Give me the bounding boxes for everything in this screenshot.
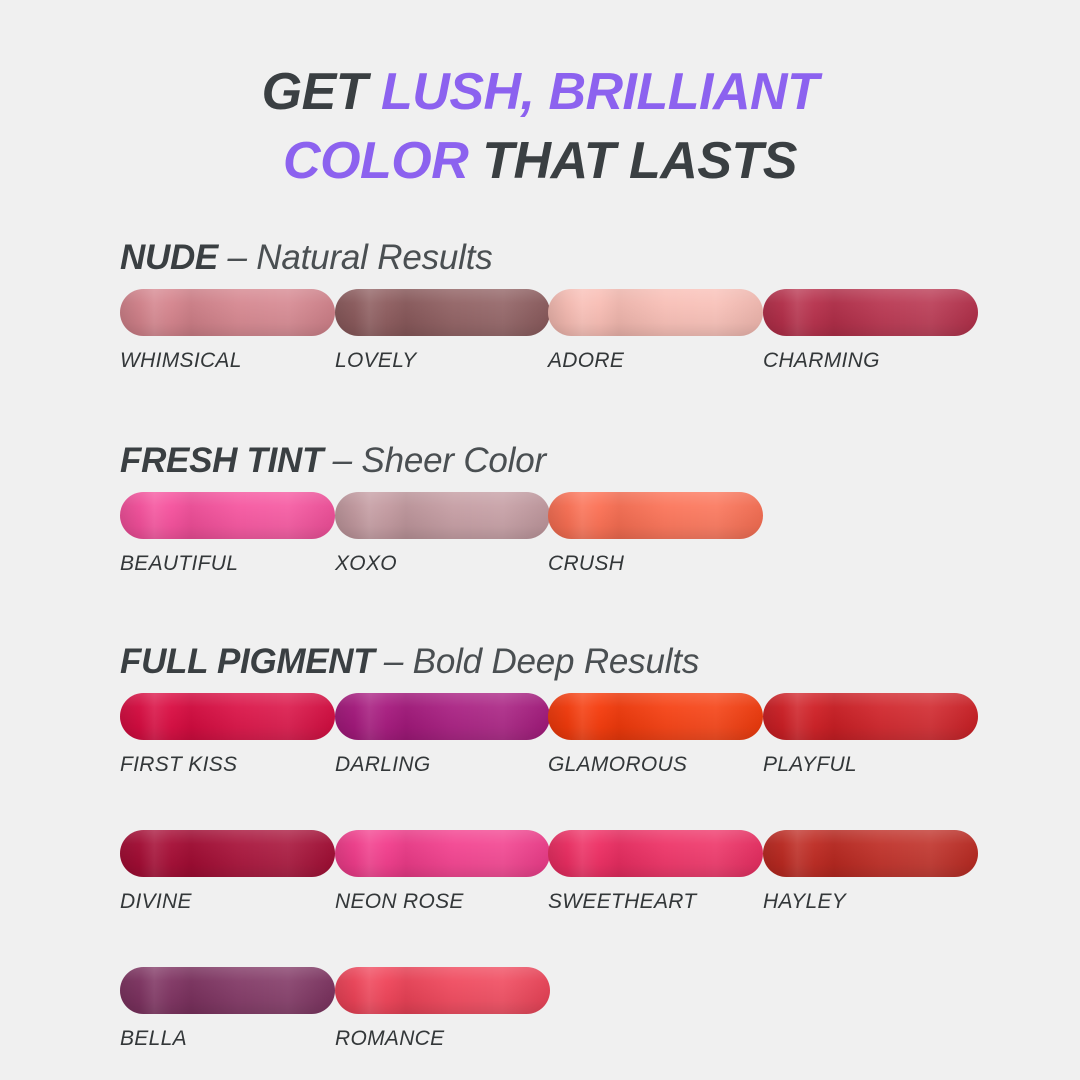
swatch-row: DIVINENEON ROSESWEETHEARTHAYLEY <box>120 830 1020 914</box>
swatch-color-chip[interactable] <box>120 289 335 336</box>
swatch-name-label: ADORE <box>548 349 763 373</box>
shade-section-fresh-tint: FRESH TINT – Sheer ColorBEAUTIFULXOXOCRU… <box>120 443 1020 576</box>
swatch-row: FIRST KISSDARLINGGLAMOROUSPLAYFUL <box>120 693 1020 777</box>
shade-section-nude: NUDE – Natural ResultsWHIMSICALLOVELYADO… <box>120 240 1020 373</box>
swatch-row: BEAUTIFULXOXOCRUSH <box>120 492 1020 576</box>
page-title-line-2: COLOR THAT LASTS <box>0 127 1080 196</box>
section-heading: NUDE – Natural Results <box>120 240 1020 275</box>
section-heading: FULL PIGMENT – Bold Deep Results <box>120 644 1020 679</box>
swatch-name-label: GLAMOROUS <box>548 753 763 777</box>
swatch-color-chip[interactable] <box>335 492 550 539</box>
swatch-color-chip[interactable] <box>335 967 550 1014</box>
swatch-name-label: DIVINE <box>120 890 335 914</box>
swatch-color-chip[interactable] <box>763 693 978 740</box>
section-category-label: NUDE <box>120 238 218 277</box>
swatch-name-label: NEON ROSE <box>335 890 550 914</box>
swatch-item[interactable]: DARLING <box>335 693 550 777</box>
swatch-item[interactable]: GLAMOROUS <box>548 693 763 777</box>
swatch-item[interactable]: BELLA <box>120 967 335 1051</box>
swatch-item[interactable]: ADORE <box>548 289 763 373</box>
swatch-color-chip[interactable] <box>335 693 550 740</box>
swatch-color-chip[interactable] <box>548 830 763 877</box>
swatch-color-chip[interactable] <box>548 289 763 336</box>
section-heading: FRESH TINT – Sheer Color <box>120 443 1020 478</box>
page-title-text-dark-1: GET <box>262 63 381 121</box>
swatch-color-chip[interactable] <box>548 693 763 740</box>
section-category-label: FULL PIGMENT <box>120 642 374 681</box>
section-description-label: – Sheer Color <box>323 441 546 480</box>
swatch-item[interactable]: NEON ROSE <box>335 830 550 914</box>
swatch-item[interactable]: BEAUTIFUL <box>120 492 335 576</box>
swatch-name-label: FIRST KISS <box>120 753 335 777</box>
page-title-text-dark-2: THAT LASTS <box>468 132 797 190</box>
swatch-name-label: HAYLEY <box>763 890 978 914</box>
swatch-item[interactable]: FIRST KISS <box>120 693 335 777</box>
swatch-item[interactable]: CRUSH <box>548 492 763 576</box>
swatch-item[interactable]: DIVINE <box>120 830 335 914</box>
swatch-color-chip[interactable] <box>120 492 335 539</box>
swatch-color-chip[interactable] <box>548 492 763 539</box>
page-title-text-accent-2: COLOR <box>283 132 468 190</box>
page-title: GET LUSH, BRILLIANT COLOR THAT LASTS <box>0 58 1080 195</box>
swatch-name-label: XOXO <box>335 552 550 576</box>
swatch-item[interactable]: PLAYFUL <box>763 693 978 777</box>
swatch-color-chip[interactable] <box>120 830 335 877</box>
page-title-text-accent-1: LUSH, BRILLIANT <box>381 63 818 121</box>
section-description-label: – Bold Deep Results <box>374 642 699 681</box>
swatch-color-chip[interactable] <box>120 693 335 740</box>
swatch-item[interactable]: HAYLEY <box>763 830 978 914</box>
swatch-item[interactable]: WHIMSICAL <box>120 289 335 373</box>
swatch-row: WHIMSICALLOVELYADORECHARMING <box>120 289 1020 373</box>
swatch-row: BELLAROMANCE <box>120 967 1020 1051</box>
swatch-name-label: CHARMING <box>763 349 978 373</box>
product-shade-chart: GET LUSH, BRILLIANT COLOR THAT LASTS NUD… <box>0 0 1080 1080</box>
section-description-label: – Natural Results <box>218 238 493 277</box>
swatch-item[interactable]: ROMANCE <box>335 967 550 1051</box>
swatch-name-label: ROMANCE <box>335 1027 550 1051</box>
swatch-name-label: WHIMSICAL <box>120 349 335 373</box>
section-category-label: FRESH TINT <box>120 441 323 480</box>
swatch-item[interactable]: CHARMING <box>763 289 978 373</box>
shade-section-full-pigment: FULL PIGMENT – Bold Deep ResultsFIRST KI… <box>120 644 1020 1051</box>
swatch-name-label: DARLING <box>335 753 550 777</box>
swatch-color-chip[interactable] <box>335 289 550 336</box>
swatch-color-chip[interactable] <box>120 967 335 1014</box>
swatch-item[interactable]: XOXO <box>335 492 550 576</box>
swatch-name-label: PLAYFUL <box>763 753 978 777</box>
swatch-name-label: CRUSH <box>548 552 763 576</box>
swatch-item[interactable]: LOVELY <box>335 289 550 373</box>
swatch-name-label: LOVELY <box>335 349 550 373</box>
page-title-line-1: GET LUSH, BRILLIANT <box>0 58 1080 127</box>
swatch-color-chip[interactable] <box>763 289 978 336</box>
swatch-color-chip[interactable] <box>763 830 978 877</box>
swatch-name-label: BELLA <box>120 1027 335 1051</box>
swatch-color-chip[interactable] <box>335 830 550 877</box>
swatch-item[interactable]: SWEETHEART <box>548 830 763 914</box>
swatch-name-label: SWEETHEART <box>548 890 763 914</box>
swatch-name-label: BEAUTIFUL <box>120 552 335 576</box>
